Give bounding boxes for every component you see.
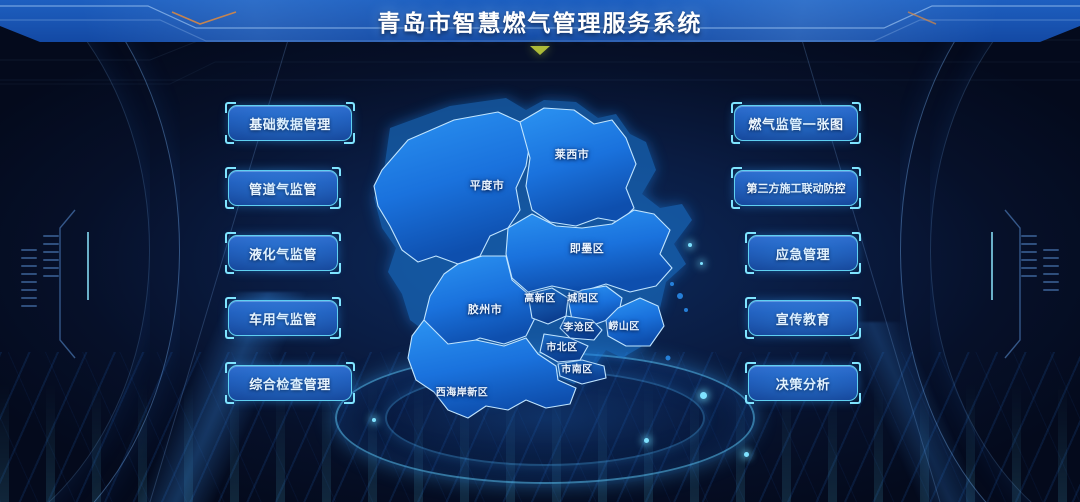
menu-item-label: 应急管理 [776,244,830,263]
corner-accent-icon [332,297,341,306]
corner-accent-icon [745,330,754,339]
menu-item-label: 综合检查管理 [249,374,331,393]
menu-item-label: 燃气监管一张图 [748,114,843,133]
map-label-gaoxin: 高新区 [524,290,556,305]
map-label-shinan: 市南区 [561,361,593,376]
corner-accent-icon [332,167,341,176]
menu-item-comprehensive-inspection[interactable]: 综合检查管理 [228,365,352,401]
map-label-shibei: 市北区 [546,339,578,354]
menu-item-label: 基础数据管理 [249,114,331,133]
menu-right: 燃气监管一张图 第三方施工联动防控 应急管理 宣传教育 决策分析 [734,105,858,401]
map-label-licang: 李沧区 [563,319,595,334]
corner-accent-icon [852,232,861,241]
corner-accent-icon [852,167,861,176]
menu-item-label: 车用气监管 [249,309,317,328]
dashboard-stage: 青岛市智慧燃气管理服务系统 [0,0,1080,502]
map-label-jimo: 即墨区 [570,240,605,256]
menu-item-gas-supervision-map[interactable]: 燃气监管一张图 [734,105,858,141]
corner-accent-icon [745,265,754,274]
menu-item-decision-analysis[interactable]: 决策分析 [748,365,858,401]
menu-item-label: 液化气监管 [249,244,317,263]
menu-item-emergency-management[interactable]: 应急管理 [748,235,858,271]
qingdao-map[interactable]: 平度市 莱西市 即墨区 胶州市 高新区 城阳区 李沧区 崂山区 市北区 市南区 … [330,58,760,458]
menu-item-vehicle-gas-supervision[interactable]: 车用气监管 [228,300,338,336]
menu-item-publicity-education[interactable]: 宣传教育 [748,300,858,336]
map-label-laoshan: 崂山区 [608,318,640,333]
banner-pointer-icon [530,46,550,55]
map-label-laixi: 莱西市 [555,146,590,162]
corner-accent-icon [332,232,341,241]
corner-accent-icon [852,102,861,111]
menu-item-label: 宣传教育 [776,309,830,328]
menu-item-label: 管道气监管 [249,179,317,198]
menu-item-label: 第三方施工联动防控 [747,180,846,196]
menu-item-third-party-construction-control[interactable]: 第三方施工联动防控 [734,170,858,206]
corner-accent-icon [225,265,234,274]
map-label-pingdu: 平度市 [470,177,505,193]
map-label-chengyang: 城阳区 [567,290,599,305]
page-title: 青岛市智慧燃气管理服务系统 [0,0,1080,42]
corner-accent-icon [225,200,234,209]
menu-item-lpg-supervision[interactable]: 液化气监管 [228,235,338,271]
map-label-jiaozhou: 胶州市 [468,301,503,317]
map-label-xihaian: 西海岸新区 [436,384,489,399]
menu-left: 基础数据管理 管道气监管 液化气监管 车用气监管 综合检查管理 [228,105,352,401]
menu-item-basic-data-management[interactable]: 基础数据管理 [228,105,352,141]
menu-item-label: 决策分析 [776,374,830,393]
corner-accent-icon [225,135,234,144]
map-shapes [330,58,760,458]
corner-accent-icon [852,297,861,306]
menu-item-pipeline-gas-supervision[interactable]: 管道气监管 [228,170,338,206]
